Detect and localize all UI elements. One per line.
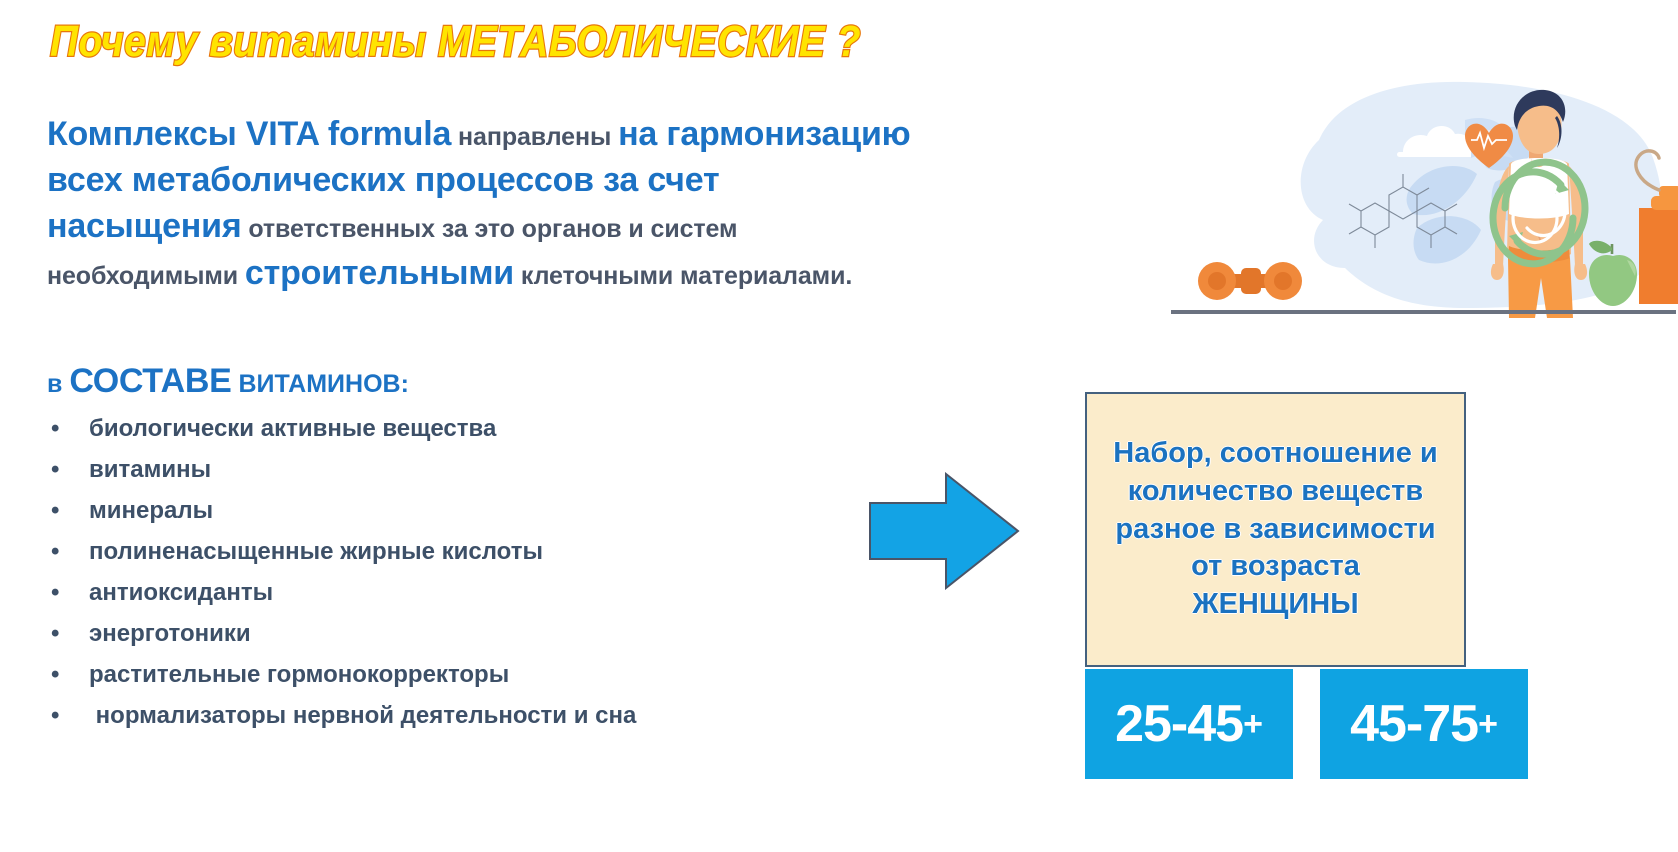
intro-line-4: необходимыми строительными клеточными ма… — [47, 251, 1182, 295]
bullet-icon: • — [51, 490, 59, 531]
age-range-label: 45-75 — [1350, 694, 1478, 754]
composition-heading-prefix: в — [47, 370, 69, 398]
age-group-box-young[interactable]: 25-45+ — [1085, 669, 1293, 779]
list-item-label: нормализаторы нервной деятельности и сна — [89, 702, 636, 729]
list-item: •минералы — [47, 490, 636, 531]
age-range-label: 25-45 — [1115, 694, 1243, 754]
intro-line-3: насыщения ответственных за это органов и… — [47, 204, 1182, 248]
info-panel-line-1: Набор, соотношение и — [1097, 435, 1454, 473]
list-item-label: антиоксиданты — [89, 579, 273, 606]
info-panel: Набор, соотношение и количество веществ … — [1085, 392, 1466, 667]
intro-saturation-text: насыщения — [47, 207, 241, 245]
intro-necessary-text: необходимыми — [47, 262, 245, 290]
list-item-label: энерготоники — [89, 620, 251, 647]
slide-canvas: Почему витамины МЕТАБОЛИЧЕСКИЕ ? Комплек… — [0, 0, 1678, 852]
ground-line — [1171, 310, 1676, 314]
info-panel-line-3: разное в зависимости — [1097, 511, 1454, 549]
age-plus-label: + — [1478, 705, 1498, 744]
intro-organs-text: ответственных за это органов и систем — [241, 215, 737, 243]
page-title: Почему витамины МЕТАБОЛИЧЕСКИЕ ? — [50, 18, 861, 67]
intro-harmonize-text: на гармонизацию — [618, 115, 910, 153]
intro-processes-text: всех метаболических процессов за счет — [47, 161, 719, 199]
bullet-icon: • — [51, 449, 59, 490]
list-item: •полиненасыщенные жирные кислоты — [47, 531, 636, 572]
list-item-label: витамины — [89, 456, 211, 483]
intro-brand-text: Комплексы VITA formula — [47, 115, 451, 153]
intro-building-text: строительными — [245, 254, 514, 292]
composition-heading-suffix: ВИТАМИНОВ: — [232, 370, 409, 398]
bullet-icon: • — [51, 613, 59, 654]
info-panel-line-4: от возраста — [1097, 548, 1454, 586]
list-item-label: полиненасыщенные жирные кислоты — [89, 538, 543, 565]
bullet-icon: • — [51, 572, 59, 613]
list-item: •антиоксиданты — [47, 572, 636, 613]
info-panel-line-2: количество веществ — [1097, 473, 1454, 511]
intro-line-1: Комплексы VITA formula направлены на гар… — [47, 112, 1182, 156]
bullet-icon: • — [51, 695, 59, 736]
intro-line-2: всех метаболических процессов за счет — [47, 158, 1182, 202]
list-item: •растительные гормонокорректоры — [47, 654, 636, 695]
info-panel-line-5: ЖЕНЩИНЫ — [1097, 586, 1454, 624]
list-item: •биологически активные вещества — [47, 408, 636, 449]
composition-heading: в СОСТАВЕ ВИТАМИНОВ: — [47, 362, 409, 401]
right-arrow-icon — [868, 472, 1020, 590]
intro-paragraph: Комплексы VITA formula направлены на гар… — [47, 112, 1182, 297]
composition-heading-keyword: СОСТАВЕ — [69, 362, 231, 400]
age-plus-label: + — [1243, 705, 1263, 744]
list-item: • нормализаторы нервной деятельности и с… — [47, 695, 636, 736]
dumbbell — [1198, 262, 1302, 300]
composition-list: •биологически активные вещества •витамин… — [47, 408, 636, 736]
list-item-label: растительные гормонокорректоры — [89, 661, 509, 688]
age-group-box-mature[interactable]: 45-75+ — [1320, 669, 1528, 779]
info-panel-text: Набор, соотношение и количество веществ … — [1087, 435, 1464, 623]
woman-metabolism-illustration — [1165, 78, 1678, 318]
list-item-label: биологически активные вещества — [89, 415, 496, 442]
intro-cellular-text: клеточными материалами. — [514, 262, 852, 290]
bullet-icon: • — [51, 408, 59, 449]
bullet-icon: • — [51, 531, 59, 572]
list-item-label: минералы — [89, 497, 213, 524]
intro-directed-text: направлены — [451, 123, 618, 151]
list-item: •витамины — [47, 449, 636, 490]
bullet-icon: • — [51, 654, 59, 695]
list-item: •энерготоники — [47, 613, 636, 654]
